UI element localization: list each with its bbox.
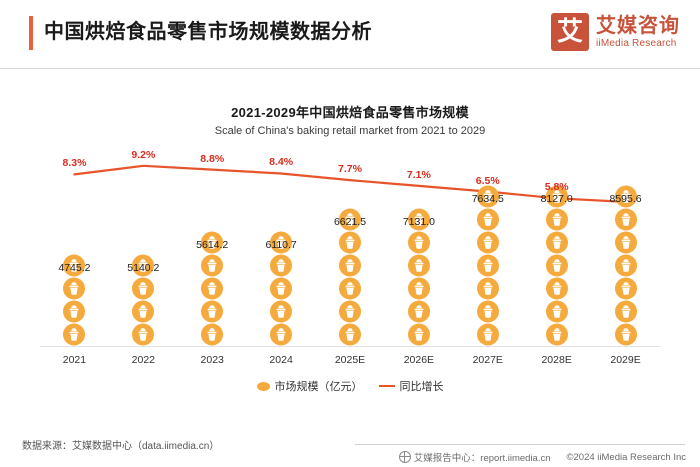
cupcake-icon — [406, 254, 432, 277]
globe-icon — [399, 451, 411, 463]
cupcake-icon — [475, 300, 501, 323]
bar-column-2023[interactable]: 5614.2 — [197, 156, 227, 346]
cupcake-icon — [199, 277, 225, 300]
chart-panel: 2021-2029年中国烘焙食品零售市场规模 Scale of China's … — [0, 68, 700, 420]
cupcake-icon — [268, 323, 294, 346]
cupcake-icon — [406, 231, 432, 254]
growth-label-2026E: 7.1% — [397, 169, 441, 181]
legend-line-icon — [379, 385, 395, 388]
cupcake-icon — [337, 323, 363, 346]
cupcake-icon — [130, 300, 156, 323]
cupcake-icon — [544, 277, 570, 300]
legend-dot-icon — [257, 382, 270, 391]
bar-stack — [473, 185, 503, 346]
legend-item-growth[interactable]: 同比增长 — [379, 378, 444, 394]
chart-title: 2021-2029年中国烘焙食品零售市场规模 — [0, 102, 700, 121]
page-header: 中国烘焙食品零售市场规模数据分析 艾 艾媒咨询 iiMedia Research — [0, 0, 700, 68]
footer-meta: 艾媒报告中心：report.iimedia.cn ©2024 iiMedia R… — [390, 450, 686, 464]
cupcake-icon — [337, 231, 363, 254]
cupcake-icon — [268, 300, 294, 323]
bar-stack — [542, 185, 572, 346]
cupcake-icon — [130, 323, 156, 346]
x-tick-2023: 2023 — [177, 354, 247, 366]
cupcake-icon — [268, 277, 294, 300]
x-tick-2022: 2022 — [108, 354, 178, 366]
cupcake-icon — [613, 323, 639, 346]
cupcake-icon — [268, 254, 294, 277]
cupcake-icon — [475, 208, 501, 231]
bar-value-label: 5614.2 — [177, 239, 247, 251]
legend-label-growth: 同比增长 — [400, 378, 444, 394]
cupcake-icon — [544, 208, 570, 231]
bar-stack — [611, 185, 641, 346]
cupcake-icon — [613, 277, 639, 300]
x-axis-line — [40, 346, 660, 347]
logo-name-cn: 艾媒咨询 — [596, 15, 680, 37]
cupcake-icon — [544, 300, 570, 323]
chart-subtitle: Scale of China's baking retail market fr… — [0, 125, 700, 137]
cupcake-icon — [613, 300, 639, 323]
title-accent-bar — [29, 16, 33, 50]
growth-label-2028E: 5.8% — [535, 181, 579, 193]
cupcake-icon — [475, 231, 501, 254]
logo-name-en: iiMedia Research — [596, 37, 680, 50]
cupcake-icon — [337, 254, 363, 277]
cupcake-icon — [544, 231, 570, 254]
cupcake-icon — [406, 323, 432, 346]
cupcake-icon — [337, 300, 363, 323]
bar-column-2029E[interactable]: 8595.6 — [611, 156, 641, 346]
bar-value-label: 8595.6 — [591, 193, 661, 205]
x-tick-2027E: 2027E — [453, 354, 523, 366]
cupcake-icon — [406, 300, 432, 323]
bar-column-2026E[interactable]: 7131.0 — [404, 156, 434, 346]
cupcake-icon — [613, 208, 639, 231]
cupcake-icon — [475, 323, 501, 346]
brand-logo: 艾 艾媒咨询 iiMedia Research — [551, 13, 680, 51]
logo-text: 艾媒咨询 iiMedia Research — [596, 15, 680, 50]
cupcake-icon — [199, 300, 225, 323]
report-center-label: 艾媒报告中心：report.iimedia.cn — [414, 450, 551, 464]
bar-stack — [404, 208, 434, 346]
data-source-note: 数据来源：艾媒数据中心（data.iimedia.cn） — [22, 437, 219, 452]
cupcake-icon — [199, 254, 225, 277]
growth-label-2027E: 6.5% — [466, 175, 510, 187]
cupcake-icon — [61, 323, 87, 346]
legend-label-market-size: 市场规模（亿元） — [275, 378, 363, 394]
bar-value-label: 6621.5 — [315, 216, 385, 228]
cupcake-icon — [544, 323, 570, 346]
x-tick-2028E: 2028E — [522, 354, 592, 366]
x-tick-2021: 2021 — [39, 354, 109, 366]
plot-area: 4745.25140.25614.26110.76621.57131.07634… — [40, 156, 660, 346]
logo-mark-glyph: 艾 — [551, 13, 589, 51]
cupcake-icon — [199, 323, 225, 346]
growth-label-2023: 8.8% — [190, 153, 234, 165]
x-tick-2025E: 2025E — [315, 354, 385, 366]
bar-column-2025E[interactable]: 6621.5 — [335, 156, 365, 346]
cupcake-icon — [61, 277, 87, 300]
cupcake-icon — [61, 300, 87, 323]
cupcake-icon — [337, 277, 363, 300]
growth-label-2022: 9.2% — [121, 149, 165, 161]
cupcake-icon — [613, 254, 639, 277]
cupcake-icon — [475, 254, 501, 277]
cupcake-icon — [475, 277, 501, 300]
bar-value-label: 7634.5 — [453, 193, 523, 205]
bar-value-label: 8127.0 — [522, 193, 592, 205]
bar-column-2022[interactable]: 5140.2 — [128, 156, 158, 346]
cupcake-icon — [406, 277, 432, 300]
cupcake-icon — [613, 231, 639, 254]
bar-stack — [335, 208, 365, 346]
copyright-label: ©2024 iiMedia Research Inc — [567, 452, 686, 463]
page-title: 中国烘焙食品零售市场规模数据分析 — [44, 17, 372, 47]
growth-label-2025E: 7.7% — [328, 163, 372, 175]
x-tick-2024: 2024 — [246, 354, 316, 366]
bar-column-2024[interactable]: 6110.7 — [266, 156, 296, 346]
logo-mark-icon: 艾 — [551, 13, 589, 51]
x-tick-2026E: 2026E — [384, 354, 454, 366]
bar-value-label: 7131.0 — [384, 216, 454, 228]
legend-item-market-size[interactable]: 市场规模（亿元） — [257, 378, 363, 394]
report-center-link[interactable]: 艾媒报告中心：report.iimedia.cn — [399, 450, 551, 464]
chart-legend: 市场规模（亿元） 同比增长 — [0, 378, 700, 394]
growth-label-2021: 8.3% — [52, 157, 96, 169]
bar-value-label: 4745.2 — [39, 262, 109, 274]
x-tick-2029E: 2029E — [591, 354, 661, 366]
bar-value-label: 6110.7 — [246, 239, 316, 251]
cupcake-icon — [544, 254, 570, 277]
growth-label-2024: 8.4% — [259, 156, 303, 168]
bar-column-2021[interactable]: 4745.2 — [59, 156, 89, 346]
footer-divider — [355, 444, 685, 445]
cupcake-icon — [130, 277, 156, 300]
bar-value-label: 5140.2 — [108, 262, 178, 274]
